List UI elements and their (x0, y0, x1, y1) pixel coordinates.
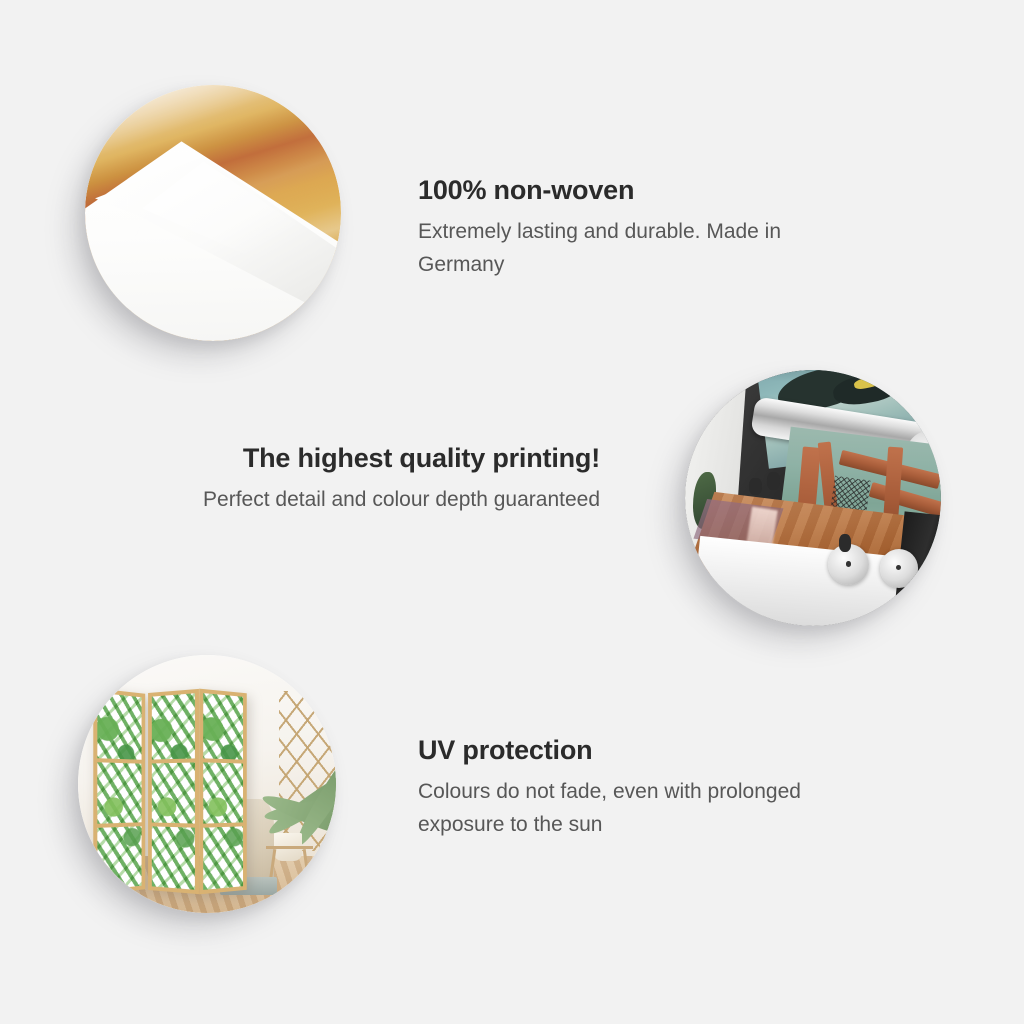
feature-image-printing (685, 370, 941, 626)
feature-description-non-woven: Extremely lasting and durable. Made in G… (418, 216, 848, 281)
tropical-room-divider-photo (78, 655, 336, 913)
feature-title-printing: The highest quality printing! (190, 442, 600, 474)
machine-knob (767, 472, 780, 490)
printing-machine-photo (685, 370, 941, 626)
product-features-infographic: 100% non-woven Extremely lasting and dur… (0, 0, 1024, 1024)
machine-wheel (880, 549, 918, 587)
divider-panel (94, 688, 146, 895)
peeled-wallpaper-corner-photo (85, 85, 341, 341)
divider-panel (148, 689, 198, 894)
divider-panel (199, 689, 247, 895)
machine-knob (749, 478, 762, 496)
feature-text-printing: The highest quality printing! Perfect de… (190, 442, 600, 517)
machine-knob (839, 534, 852, 552)
feature-text-non-woven: 100% non-woven Extremely lasting and dur… (418, 174, 848, 281)
feature-text-uv-protection: UV protection Colours do not fade, even … (418, 734, 818, 841)
tropical-room-divider (93, 691, 248, 892)
feature-description-uv-protection: Colours do not fade, even with prolonged… (418, 776, 818, 841)
feature-title-non-woven: 100% non-woven (418, 174, 848, 206)
feature-image-uv-protection (78, 655, 336, 913)
feature-description-printing: Perfect detail and colour depth guarante… (190, 484, 600, 517)
feature-image-non-woven (85, 85, 341, 341)
feature-title-uv-protection: UV protection (418, 734, 818, 766)
